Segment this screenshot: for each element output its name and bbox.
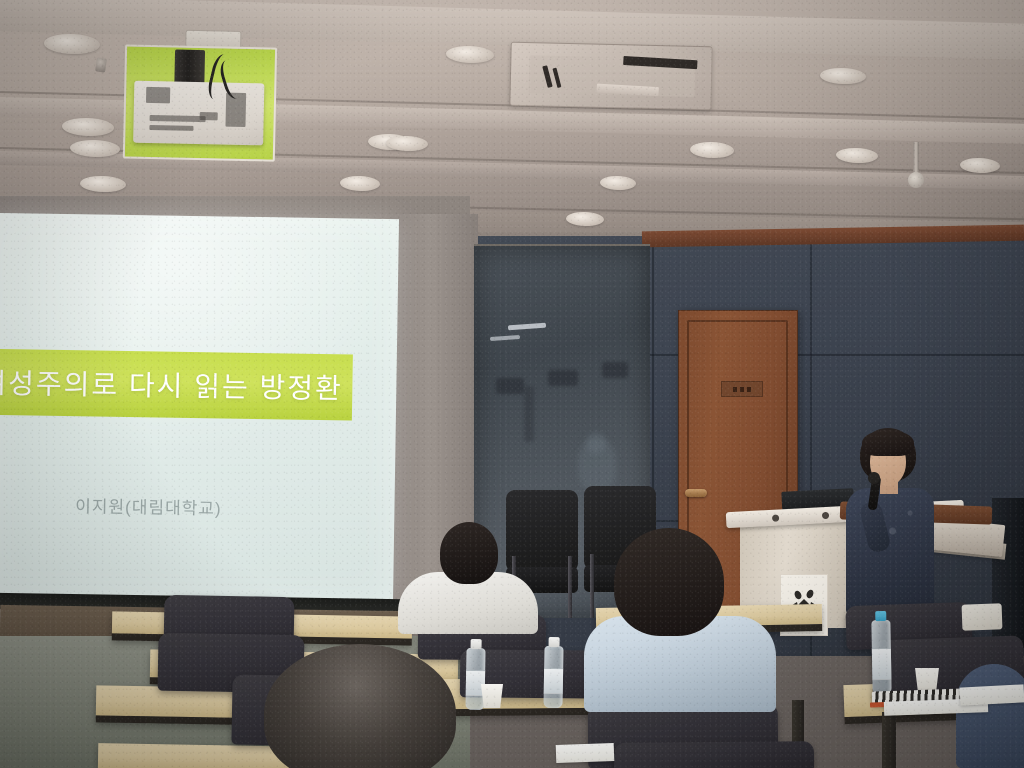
downlight-icon	[836, 147, 878, 163]
reflected-fixture	[496, 378, 524, 394]
downlight-icon	[600, 175, 636, 190]
downlight-icon	[690, 141, 735, 159]
downlight-icon	[820, 67, 867, 85]
attendee-foreground	[248, 644, 468, 768]
bottle-cap	[875, 611, 886, 621]
bottle-label	[544, 668, 563, 694]
attendee-head	[614, 528, 724, 636]
downlight-icon	[340, 175, 380, 191]
water-bottle[interactable]	[465, 648, 485, 710]
downlight-icon	[44, 33, 101, 55]
bottle-cap	[549, 637, 560, 647]
water-bottle[interactable]	[871, 620, 891, 694]
slide-title-band: 여성주의로 다시 읽는 방정환	[0, 349, 353, 421]
reflected-fixture	[524, 386, 534, 442]
downlight-icon	[80, 175, 127, 193]
ceiling-bracket-icon	[95, 57, 107, 72]
projector-vent-icon	[146, 87, 170, 103]
sprinkler-stem	[913, 142, 919, 176]
table-leg	[882, 712, 896, 768]
attendee-head-gray-hair	[264, 644, 456, 768]
attendee-torso	[956, 664, 1024, 768]
conference-room-photo: 여성주의로 다시 읽는 방정환 이지원(대림대학교)	[0, 0, 1024, 768]
podium-button[interactable]	[822, 512, 829, 519]
handout-papers[interactable]	[556, 743, 615, 763]
downlight-icon	[446, 45, 495, 64]
door-sign	[721, 381, 763, 397]
light-reflection	[490, 335, 520, 341]
water-bottle[interactable]	[543, 646, 563, 708]
presenter-fringe	[862, 430, 914, 456]
attendee-center	[584, 528, 776, 710]
screen-glow	[0, 213, 399, 459]
presenter	[840, 428, 936, 614]
attendee-head	[440, 522, 498, 584]
bottle-label	[872, 648, 892, 680]
screen-surface: 여성주의로 다시 읽는 방정환 이지원(대림대학교)	[0, 213, 399, 605]
slide-title-text: 여성주의로 다시 읽는 방정환	[0, 362, 343, 408]
audience-chair[interactable]	[614, 741, 814, 768]
projector-lens-icon	[200, 112, 218, 120]
sprinkler-head	[908, 142, 924, 194]
downlight-icon	[62, 117, 115, 137]
ceiling-projector	[123, 44, 273, 157]
light-reflection	[508, 323, 546, 331]
podium-button[interactable]	[772, 514, 779, 521]
reflected-fixture	[602, 362, 628, 378]
attendee-back-row	[398, 518, 538, 630]
projector-mount-plate	[123, 44, 277, 161]
chair-leg	[568, 556, 572, 618]
tissue-box[interactable]	[962, 603, 1003, 630]
projection-screen: 여성주의로 다시 읽는 방정환 이지원(대림대학교)	[0, 213, 399, 605]
reflected-person-head	[586, 432, 606, 454]
bottle-cap	[471, 639, 482, 649]
projector-detail	[149, 125, 193, 131]
reflected-fixture	[548, 370, 578, 386]
projector-detail	[150, 115, 206, 122]
sprinkler-deflector	[908, 172, 924, 188]
handout-papers[interactable]	[960, 684, 1024, 705]
paper-cup[interactable]	[480, 684, 504, 708]
air-conditioning-vent	[509, 42, 712, 111]
microphone-capsule	[868, 472, 880, 484]
slide-author-text: 이지원(대림대학교)	[0, 491, 309, 521]
table-leg	[792, 700, 804, 744]
door-handle[interactable]	[685, 489, 707, 497]
